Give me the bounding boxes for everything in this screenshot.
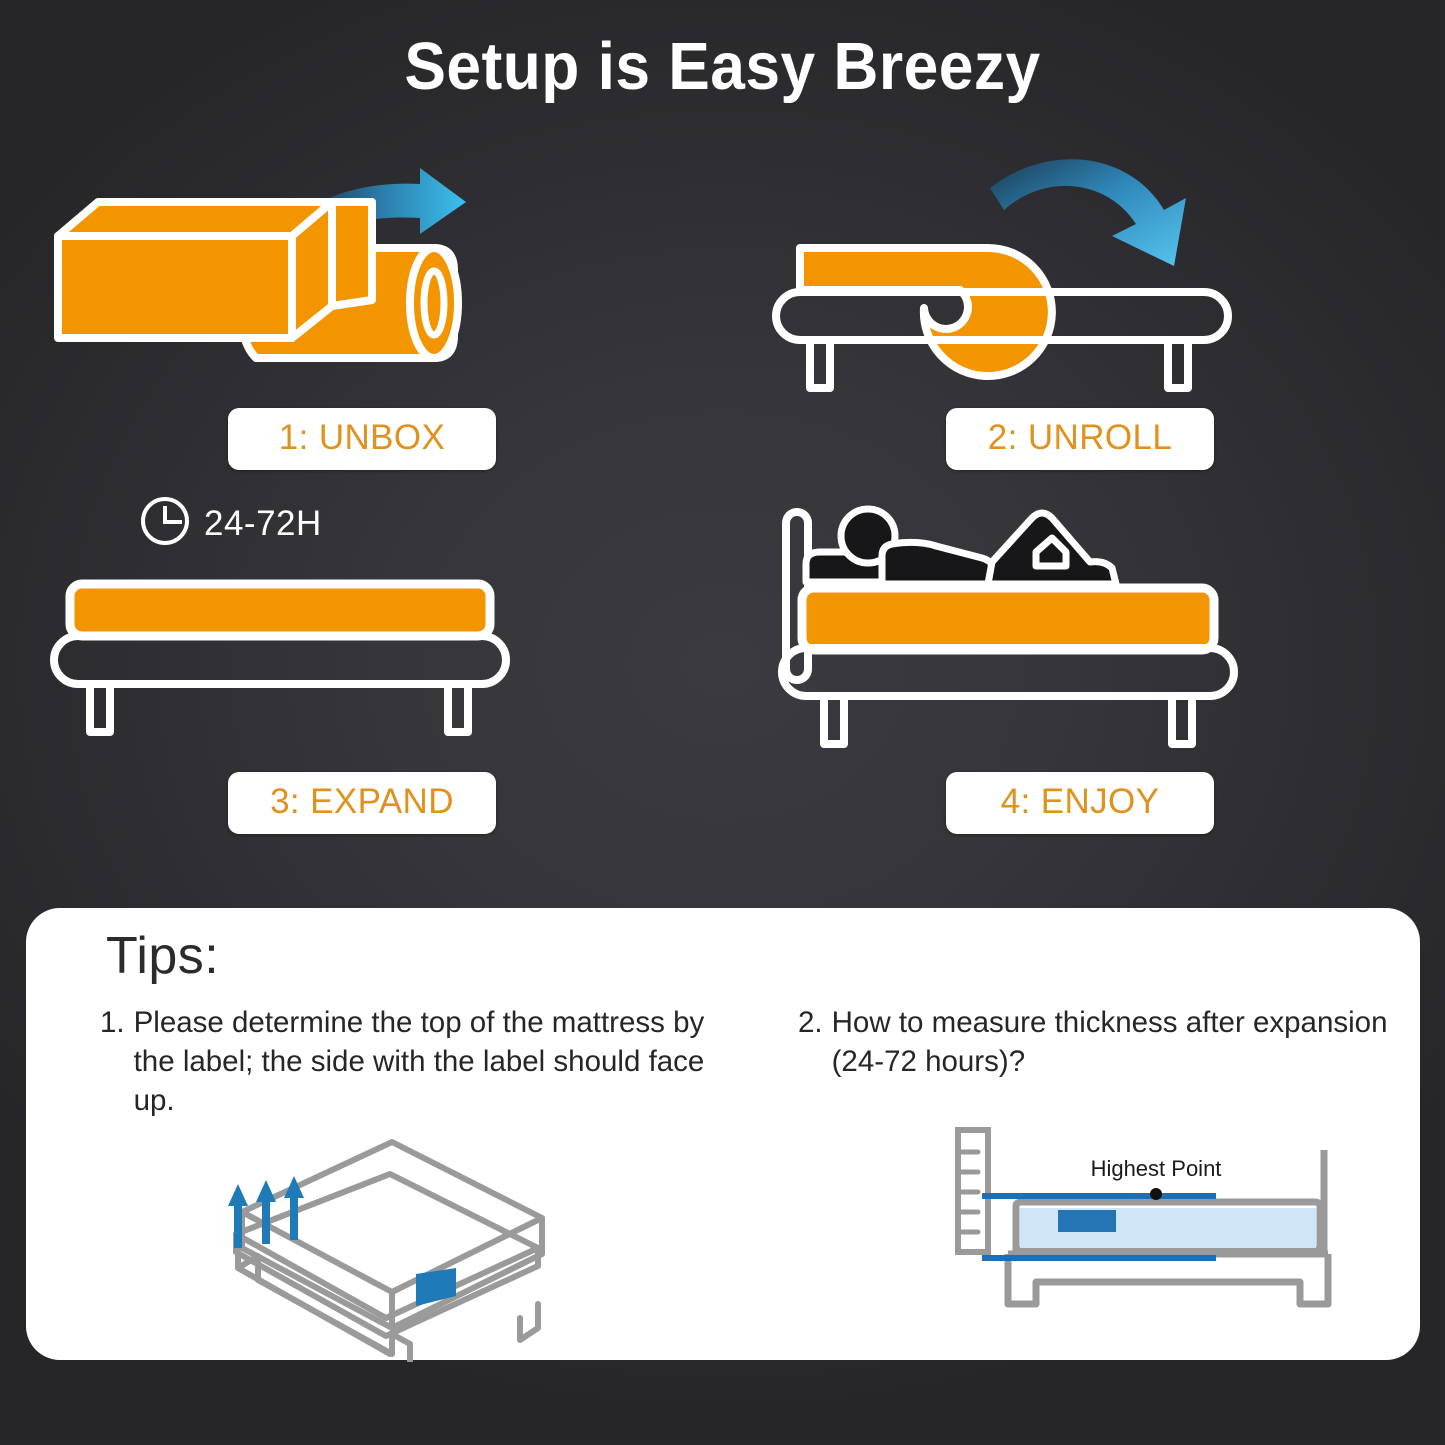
upward-arrows-icon (228, 1176, 304, 1248)
box-with-rolled-mattress-icon (42, 140, 682, 408)
tip-2-body: How to measure thickness after expansion… (832, 1004, 1408, 1082)
tips-heading: Tips: (106, 926, 219, 986)
mattress-unrolling-on-bed-base-icon (760, 140, 1400, 408)
tip-1-number: 1. (100, 1004, 125, 1043)
step-label-unroll: 2: UNROLL (946, 408, 1214, 470)
step-label-unbox: 1: UNBOX (228, 408, 496, 470)
bed-side-view-with-ruler-icon: Highest Point (948, 1114, 1378, 1329)
highest-point-marker (1150, 1188, 1162, 1200)
step-unbox: 1: UNBOX (42, 140, 682, 490)
tip-1-body: Please determine the top of the mattress… (134, 1004, 710, 1121)
page-title: Setup is Easy Breezy (51, 28, 1395, 105)
flat-mattress-on-bed-base-icon (42, 500, 682, 768)
step-expand: 24-72H 3: EXPAND (42, 500, 682, 850)
step-label-expand: 3: EXPAND (228, 772, 496, 834)
isometric-mattress-on-frame-with-label-icon (220, 1122, 690, 1362)
highest-point-label: Highest Point (1091, 1156, 1222, 1181)
tip-item-1: 1. Please determine the top of the mattr… (100, 1004, 710, 1121)
mattress-label-tag (1058, 1210, 1116, 1232)
ruler-icon (958, 1130, 988, 1252)
step-label-enjoy: 4: ENJOY (946, 772, 1214, 834)
tip-1-text-row: 1. Please determine the top of the mattr… (100, 1004, 710, 1121)
tips-card: Tips: 1. Please determine the top of the… (26, 908, 1420, 1360)
blue-curved-arrow-icon (990, 159, 1186, 266)
infographic-root: Setup is Easy Breezy (0, 0, 1445, 1445)
tip-2-number: 2. (798, 1004, 823, 1043)
step-unroll: 2: UNROLL (760, 140, 1400, 490)
steps-grid: 1: UNBOX (0, 140, 1445, 870)
step-enjoy: 4: ENJOY (760, 500, 1400, 850)
tip-item-2: 2. How to measure thickness after expans… (798, 1004, 1408, 1082)
person-sleeping-on-bed-icon (760, 500, 1400, 768)
tip-2-text-row: 2. How to measure thickness after expans… (798, 1004, 1408, 1082)
